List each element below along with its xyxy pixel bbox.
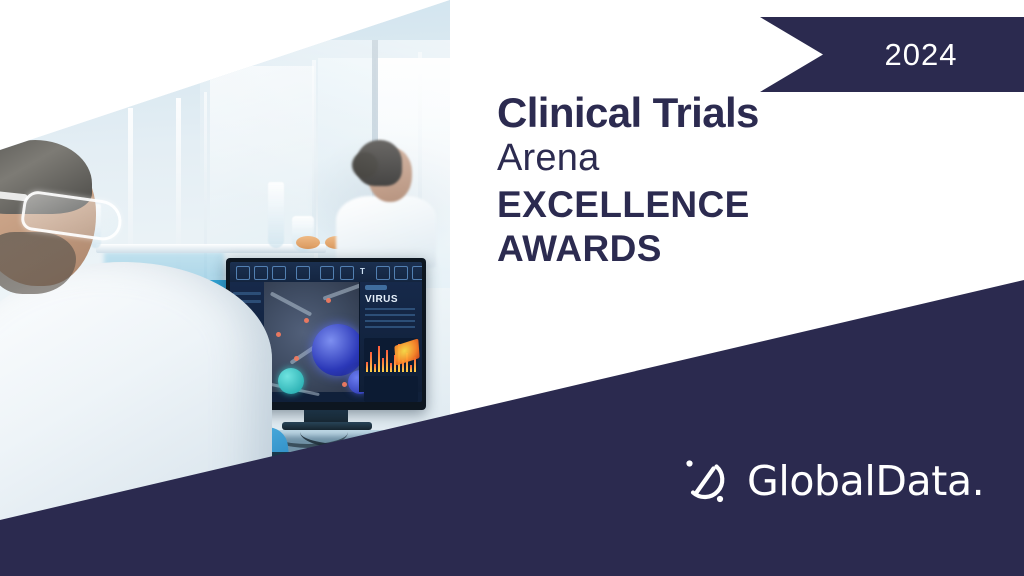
globaldata-logo: GlobalData. — [676, 452, 984, 510]
virus-visualization-canvas — [264, 282, 360, 392]
sample-cards — [364, 376, 418, 402]
title-line-awards: AWARDS — [497, 227, 917, 271]
toolbar-icon — [296, 266, 310, 280]
toolbar-icon — [340, 266, 354, 280]
virus-panel-title: VIRUS — [365, 294, 398, 305]
toolbar-icon — [254, 266, 268, 280]
banner-canvas: T — [0, 0, 1024, 576]
year-label: 2024 — [827, 37, 958, 73]
ceiling-light-reflection — [258, 0, 450, 44]
brush-icon — [394, 266, 408, 280]
panel-stat-list — [365, 308, 417, 334]
virus-particle — [312, 324, 364, 376]
title-line-arena: Arena — [497, 137, 917, 180]
glass-haze — [200, 40, 450, 290]
award-title-block: Clinical Trials Arena EXCELLENCE AWARDS — [497, 92, 917, 271]
toolbar-icon — [376, 266, 390, 280]
globaldata-wordmark: GlobalData. — [747, 457, 984, 505]
title-line-excellence: EXCELLENCE — [497, 183, 917, 227]
panel-tag — [365, 285, 387, 290]
title-line-clinical-trials: Clinical Trials — [497, 92, 917, 135]
play-icon — [320, 266, 334, 280]
globaldata-circle-mark — [676, 452, 734, 510]
text-tool-icon: T — [360, 267, 365, 276]
year-ribbon: 2024 — [760, 17, 1024, 92]
settings-icon — [412, 266, 422, 280]
toolbar-icon — [272, 266, 286, 280]
virus-particle — [278, 368, 304, 394]
app-right-panel: VIRUS — [359, 282, 422, 392]
app-toolbar: T — [230, 262, 422, 283]
toolbar-icon — [236, 266, 250, 280]
